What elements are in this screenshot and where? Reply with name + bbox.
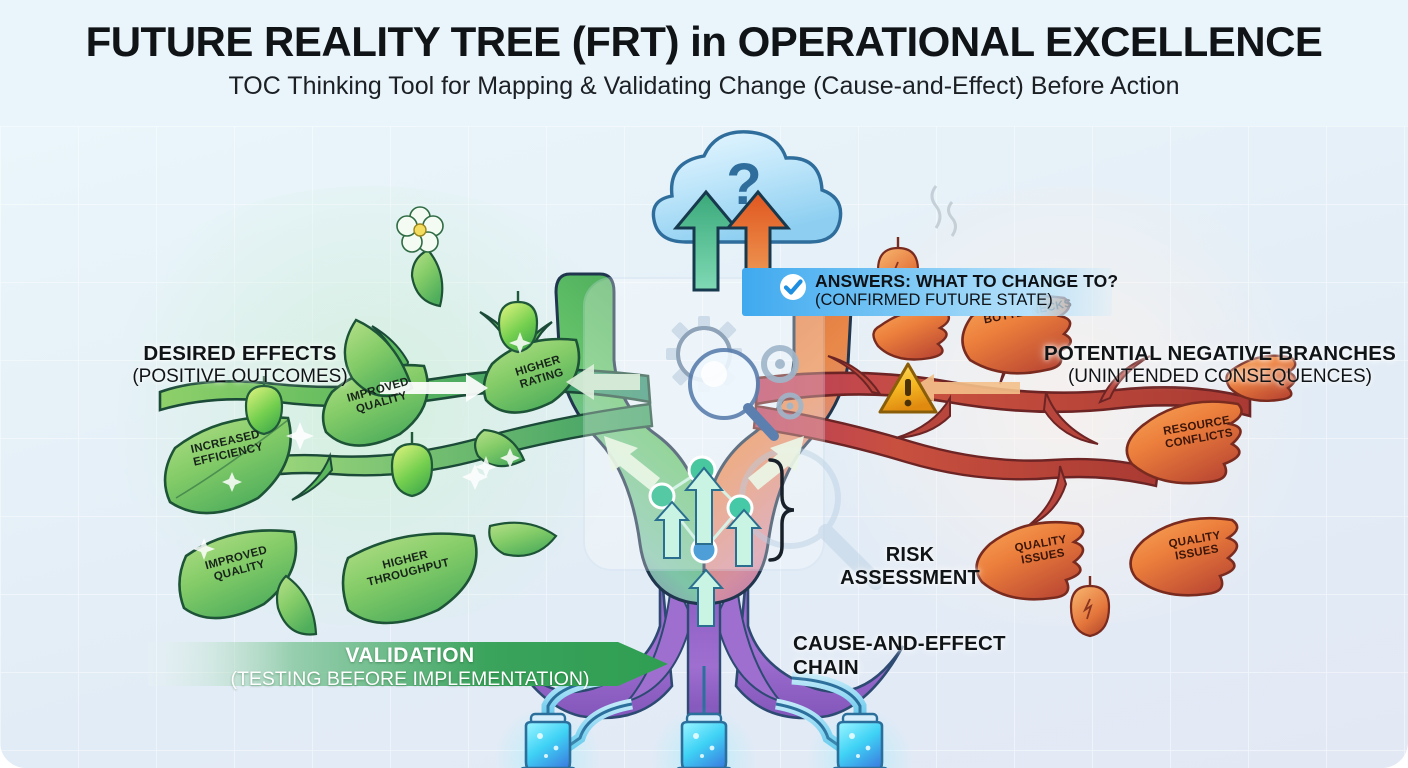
answers-line1: ANSWERS: WHAT TO CHANGE TO? bbox=[815, 271, 1118, 291]
rotten-apple-2 bbox=[1071, 576, 1109, 636]
answers-line2: (CONFIRMED FUTURE STATE) bbox=[815, 291, 1118, 310]
leaf-higher-throughput bbox=[343, 534, 476, 623]
header: FUTURE REALITY TREE (FRT) in OPERATIONAL… bbox=[0, 0, 1408, 126]
smoke-icon bbox=[932, 186, 956, 236]
cause-effect-chain-label: CAUSE-AND-EFFECT CHAIN bbox=[793, 632, 1023, 680]
leaf-plain-4 bbox=[489, 523, 556, 556]
negative-branches-line1: POTENTIAL NEGATIVE BRANCHES bbox=[1035, 342, 1405, 366]
infographic-root: FUTURE REALITY TREE (FRT) in OPERATIONAL… bbox=[0, 0, 1408, 768]
validation-line1: VALIDATION bbox=[200, 644, 620, 668]
page-subtitle: TOC Thinking Tool for Mapping & Validati… bbox=[0, 64, 1408, 101]
illustration-panel: ? bbox=[0, 126, 1408, 768]
injection-vial-2 bbox=[676, 714, 732, 768]
leaf-negative-plain-1 bbox=[873, 310, 948, 360]
desired-effects-label: DESIRED EFFECTS (POSITIVE OUTCOMES) bbox=[75, 342, 405, 388]
leaf-plain-3 bbox=[277, 576, 316, 634]
page-title: FUTURE REALITY TREE (FRT) in OPERATIONAL… bbox=[0, 0, 1408, 64]
cause-effect-line2: CHAIN bbox=[793, 656, 1023, 680]
leaf-resource-conflicts bbox=[1127, 402, 1242, 484]
leaf-higher-rating bbox=[484, 339, 579, 413]
leaf-quality-issues-right bbox=[1131, 518, 1238, 595]
negative-branches-line2: (UNINTENDED CONSEQUENCES) bbox=[1035, 366, 1405, 388]
desired-effects-line1: DESIRED EFFECTS bbox=[75, 342, 405, 366]
answers-label: ANSWERS: WHAT TO CHANGE TO? (CONFIRMED F… bbox=[815, 271, 1118, 310]
leaf-plain-5 bbox=[412, 250, 442, 306]
positive-branch bbox=[120, 207, 652, 634]
injection-vial-3 bbox=[832, 714, 888, 768]
desired-effects-line2: (POSITIVE OUTCOMES) bbox=[75, 366, 405, 388]
negative-branches-label: POTENTIAL NEGATIVE BRANCHES (UNINTENDED … bbox=[1035, 342, 1405, 388]
apple-icon-2 bbox=[392, 432, 432, 496]
flower-icon bbox=[397, 207, 443, 252]
risk-assessment-line2: ASSESSMENT bbox=[820, 567, 1000, 590]
validation-line2: (TESTING BEFORE IMPLEMENTATION) bbox=[200, 668, 620, 690]
risk-assessment-label: RISK ASSESSMENT bbox=[820, 544, 1000, 590]
risk-assessment-line1: RISK bbox=[820, 544, 1000, 567]
check-circle-icon bbox=[779, 273, 807, 301]
cause-effect-line1: CAUSE-AND-EFFECT bbox=[793, 632, 1023, 656]
validation-label: VALIDATION (TESTING BEFORE IMPLEMENTATIO… bbox=[200, 644, 620, 691]
injection-vial-1 bbox=[520, 714, 576, 768]
